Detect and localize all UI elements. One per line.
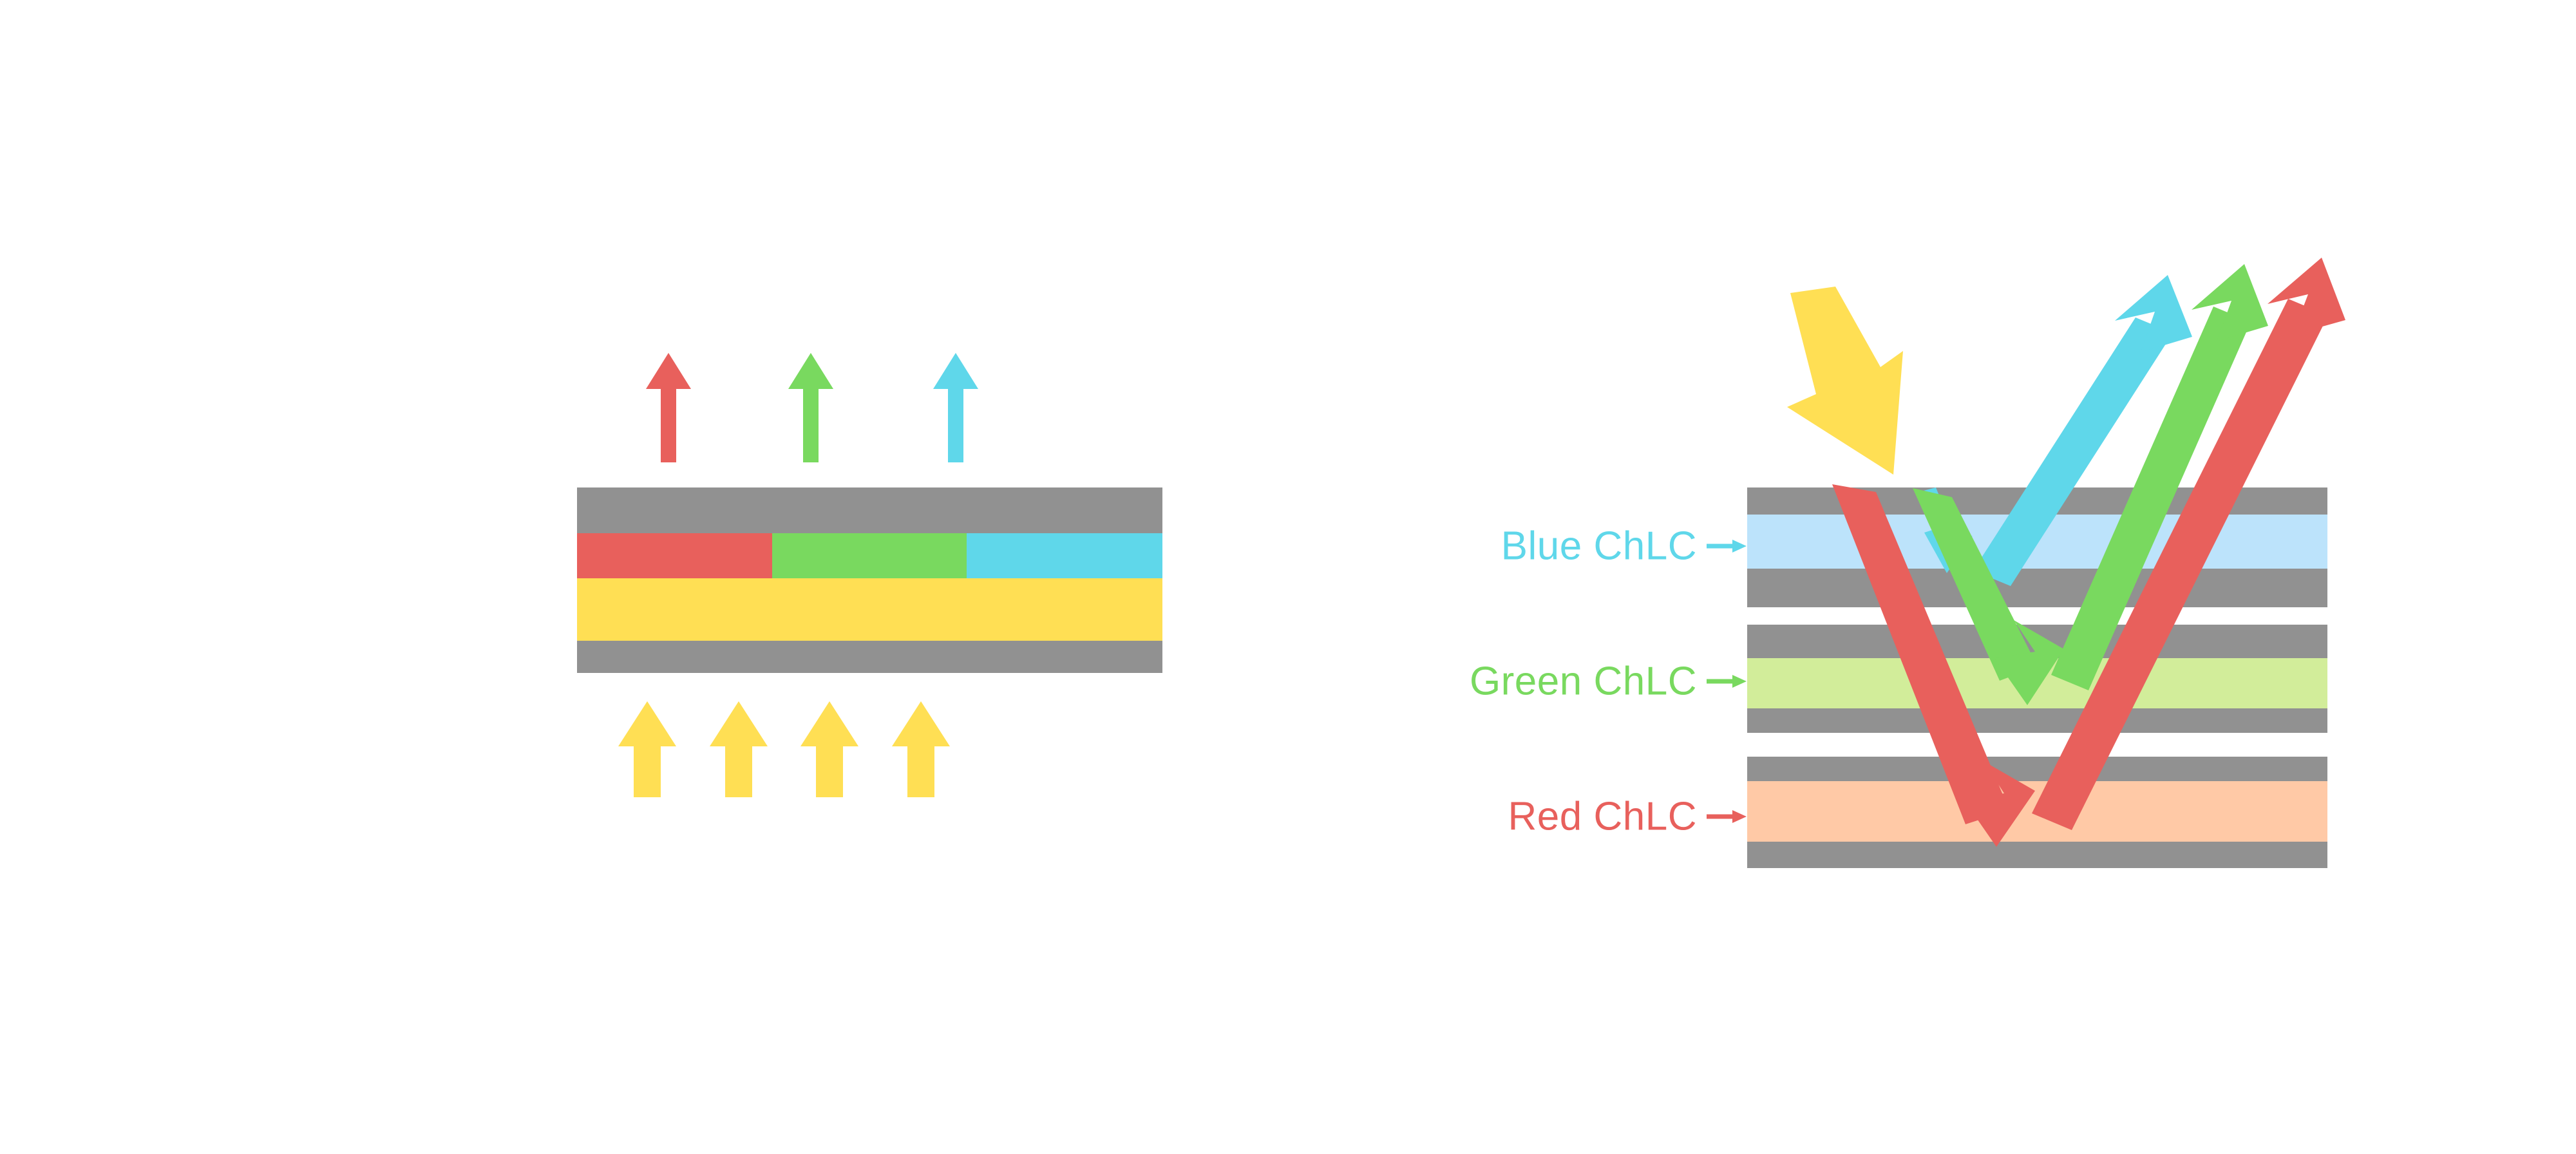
chlc-stack-figure: Blue ChLC Green ChLC Red ChLC xyxy=(0,0,2576,1154)
label-green-chlc: Green ChLC xyxy=(1470,659,1697,703)
green-ray-out-head xyxy=(2192,264,2268,341)
backlight-arrow-3 xyxy=(800,701,858,797)
backlight-arrow-1 xyxy=(618,701,676,797)
bottom-electrode xyxy=(577,641,1162,673)
left-panel-transmissive-stack xyxy=(577,353,1162,797)
label-red-chlc-arrowhead xyxy=(1732,810,1747,823)
blue-cell-bottom-electrode xyxy=(1747,569,2327,607)
right-panel-labels: Blue ChLC Green ChLC Red ChLC xyxy=(1470,524,1747,838)
diagram-canvas: Blue ChLC Green ChLC Red ChLC xyxy=(0,0,2576,1154)
green-cell-bottom-electrode xyxy=(1747,708,2327,733)
label-blue-chlc-arrowhead xyxy=(1732,540,1747,553)
top-electrode xyxy=(577,487,1162,533)
label-red-chlc: Red ChLC xyxy=(1508,794,1697,838)
gap-1 xyxy=(1747,607,2327,625)
red-subpixel xyxy=(577,533,772,578)
left-panel-bottom-arrows xyxy=(618,701,950,797)
backlight-arrow-4 xyxy=(892,701,950,797)
green-subpixel xyxy=(772,533,967,578)
red-cell-top-electrode xyxy=(1747,757,2327,781)
backlight-arrow-2 xyxy=(710,701,768,797)
left-panel-layer-stack xyxy=(577,487,1162,673)
left-panel-top-arrows xyxy=(646,353,978,462)
cyan-emission-arrow xyxy=(933,353,978,462)
blue-subpixel xyxy=(967,533,1162,578)
green-emission-arrow xyxy=(788,353,833,462)
gap-2 xyxy=(1747,733,2327,757)
right-panel-reflective-stack: Blue ChLC Green ChLC Red ChLC xyxy=(1470,258,2345,868)
red-emission-arrow xyxy=(646,353,691,462)
red-cell-bottom-electrode xyxy=(1747,842,2327,868)
label-green-chlc-arrowhead xyxy=(1732,675,1747,688)
white-light-incident-arrow xyxy=(1787,287,1903,475)
backlight-layer xyxy=(577,578,1162,641)
label-blue-chlc: Blue ChLC xyxy=(1501,524,1697,568)
